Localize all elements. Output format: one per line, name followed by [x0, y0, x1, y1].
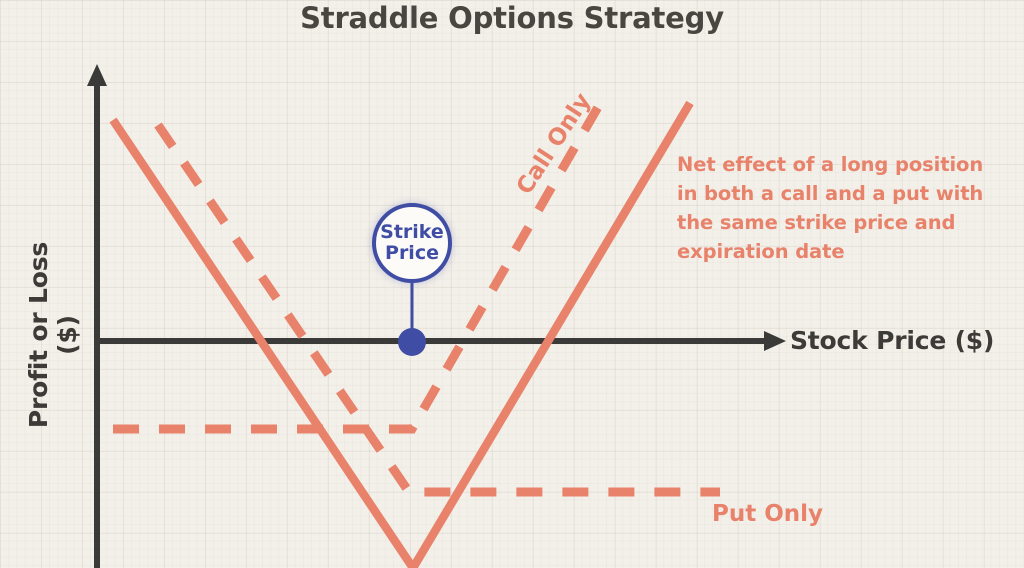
- put-only-label: Put Only: [712, 501, 823, 527]
- net-effect-annotation: Net effect of a long position in both a …: [677, 150, 997, 266]
- x-axis-label: Stock Price ($): [790, 326, 994, 355]
- y-axis-arrowhead: [87, 64, 107, 86]
- page-title: Straddle Options Strategy: [0, 1, 1024, 35]
- chart-canvas: Straddle Options Strategy Profit or Loss…: [0, 0, 1024, 568]
- strike-price-line2: Price: [385, 243, 439, 264]
- y-axis-label: Profit or Loss ($): [24, 220, 82, 450]
- series-call-only-line: [113, 95, 605, 429]
- strike-price-dot[interactable]: [398, 328, 426, 356]
- strike-price-line1: Strike: [380, 222, 444, 243]
- strike-price-callout[interactable]: Strike Price: [372, 203, 452, 283]
- x-axis-arrowhead: [764, 331, 786, 351]
- straddle-chart-graphics: [0, 0, 1024, 568]
